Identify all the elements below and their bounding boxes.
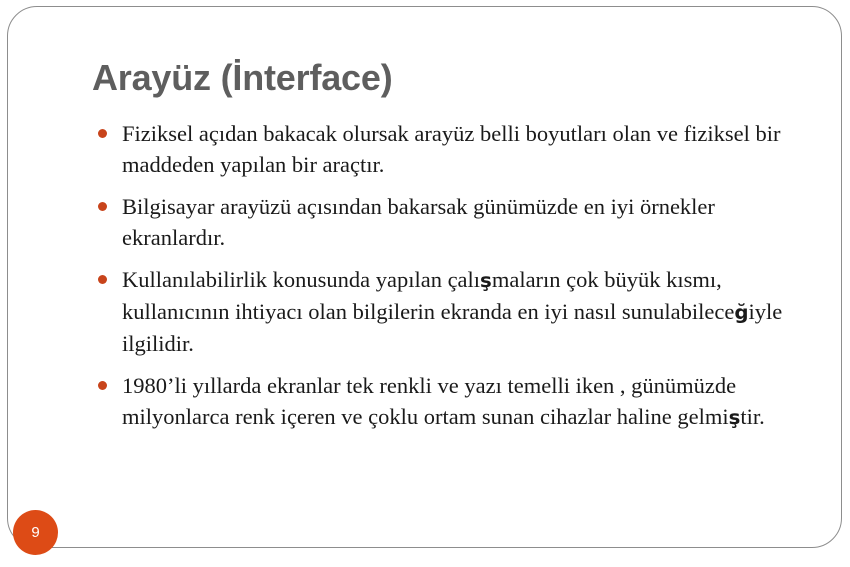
presentation-slide: Arayüz (İnterface) Fiziksel açıdan bakac… xyxy=(0,0,850,567)
list-item: 1980’li yıllarda ekranlar tek renkli ve … xyxy=(92,370,804,433)
bullet-point-icon xyxy=(98,275,107,284)
bullet-text-part: tir. xyxy=(740,404,764,429)
list-item: Bilgisayar arayüzü açısından bakarsak gü… xyxy=(92,191,804,253)
bullet-text-altglyph: ş xyxy=(729,406,741,429)
bullet-point-icon xyxy=(98,381,107,390)
bullet-text-altglyph: ş xyxy=(480,269,492,292)
list-item: Kullanılabilirlik konusunda yapılan çalı… xyxy=(92,264,804,359)
bullet-text-part: Fiziksel açıdan bakacak olursak arayüz b… xyxy=(122,121,781,177)
bullet-point-icon xyxy=(98,129,107,138)
slide-title: Arayüz (İnterface) xyxy=(92,57,392,99)
bullet-text-altglyph: ğ xyxy=(734,301,748,324)
list-item: Fiziksel açıdan bakacak olursak arayüz b… xyxy=(92,118,804,180)
bullet-point-icon xyxy=(98,202,107,211)
bullet-list: Fiziksel açıdan bakacak olursak arayüz b… xyxy=(92,118,804,444)
bullet-text-part: Kullanılabilirlik konusunda yapılan çalı xyxy=(122,267,480,292)
page-number-label: 9 xyxy=(31,524,39,541)
bullet-text-part: Bilgisayar arayüzü açısından bakarsak gü… xyxy=(122,194,715,250)
bullet-text-part: 1980’li yıllarda ekranlar tek renkli ve … xyxy=(122,373,736,429)
page-number-badge: 9 xyxy=(13,510,58,555)
